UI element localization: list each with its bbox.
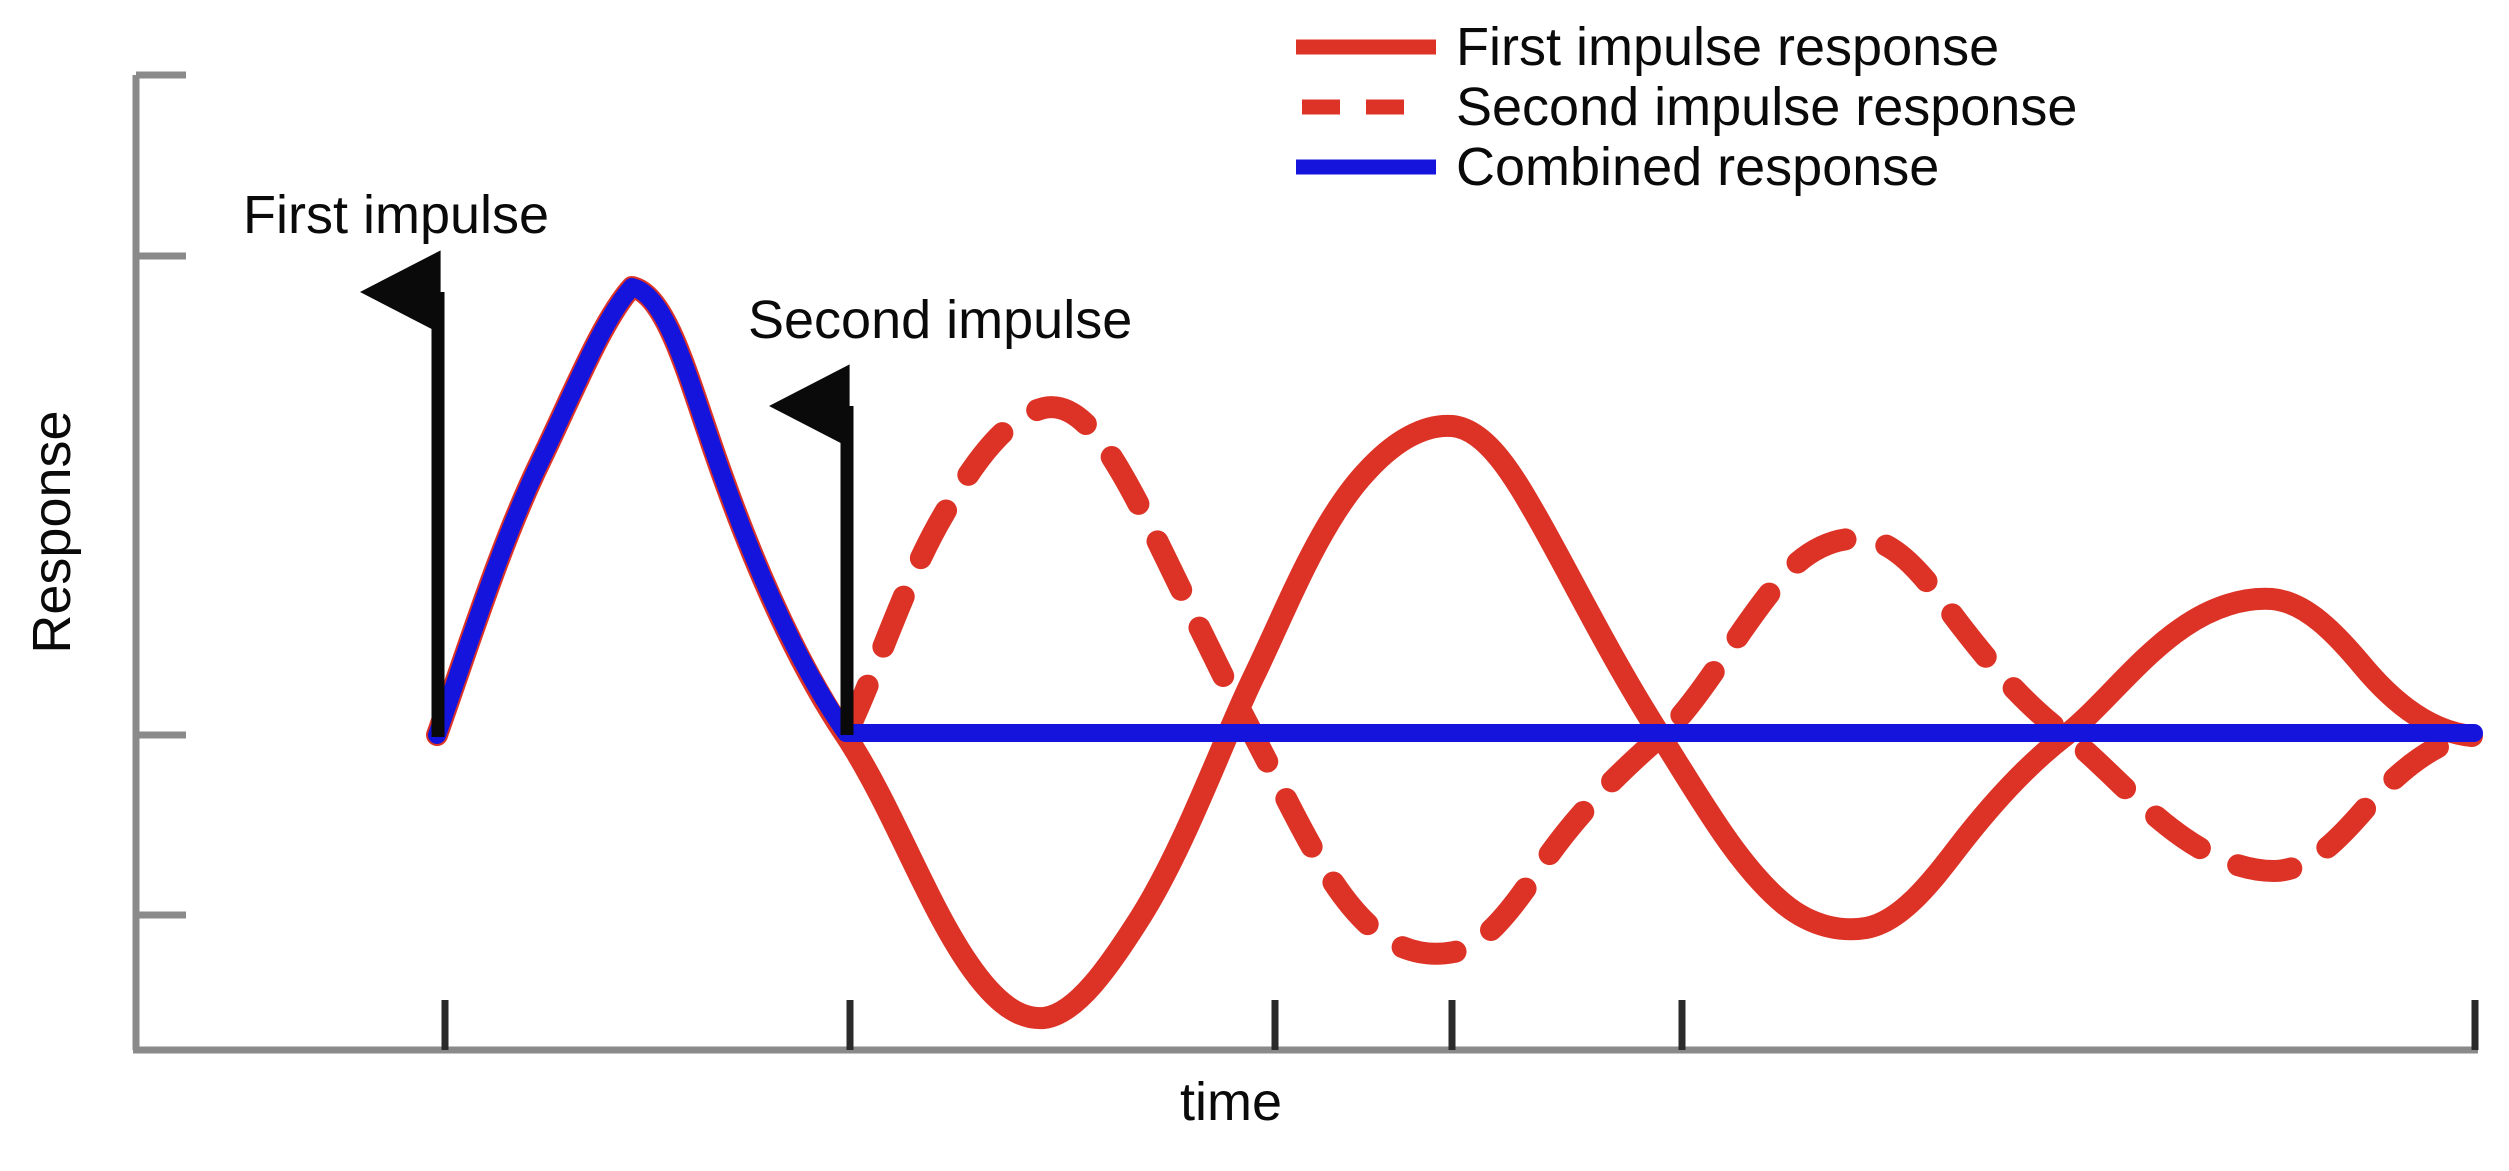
series-first-impulse-response (437, 287, 2472, 1018)
chart-legend: First impulse response Second impulse re… (1296, 20, 2077, 194)
legend-item-second-impulse-response[interactable]: Second impulse response (1296, 80, 2077, 134)
annotation-second-impulse: Second impulse (748, 293, 1132, 347)
data-series-group (437, 287, 2474, 1018)
dashed-line-icon (1296, 80, 1436, 134)
impulse-response-chart: Response time First impulse Second impul… (0, 0, 2509, 1171)
x-axis-ticks (445, 1000, 2475, 1050)
legend-label: Second impulse response (1456, 76, 2077, 138)
y-axis-ticks (136, 75, 186, 915)
y-axis-title: Response (25, 362, 79, 702)
solid-line-icon (1296, 140, 1436, 194)
solid-line-icon (1296, 20, 1436, 74)
plot-area (0, 0, 2509, 1171)
series-combined-response (437, 287, 2474, 735)
x-axis-title: time (1180, 1075, 1282, 1129)
impulse-arrows-group (438, 292, 847, 737)
legend-item-first-impulse-response[interactable]: First impulse response (1296, 20, 2077, 74)
legend-item-combined-response[interactable]: Combined response (1296, 140, 2077, 194)
legend-label: Combined response (1456, 136, 1939, 198)
series-second-impulse-response (846, 407, 2472, 954)
annotation-first-impulse: First impulse (243, 188, 549, 242)
legend-label: First impulse response (1456, 16, 1999, 78)
